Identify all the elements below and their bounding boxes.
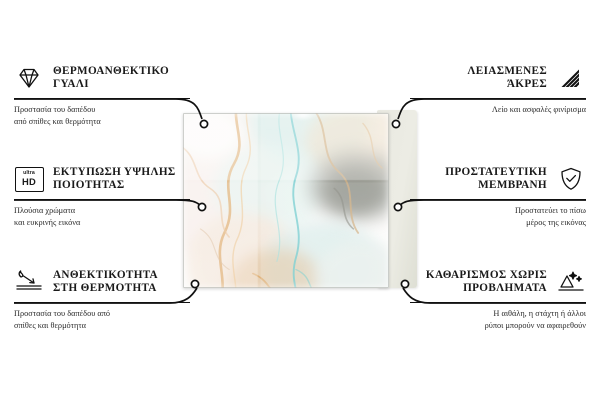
glass-panel xyxy=(183,113,389,288)
feature-title: ΚΑΘΑΡΙΣΜΟΣ ΧΩΡΙΣ ΠΡΟΒΛΗΜΑΤΑ xyxy=(426,269,547,295)
marble-artwork xyxy=(183,113,389,288)
infographic-page: ΘΕΡΜΟΑΝΘΕΚΤΙΚΟ ΓΥΑΛΙ Προστασία του δαπέδ… xyxy=(0,0,600,400)
feature-title: ΠΡΟΣΤΑΤΕΥΤΙΚΗ ΜΕΜΒΡΑΝΗ xyxy=(445,166,547,192)
feature-description: Η αιθάλη, η στάχτη ή άλλοι ρύποι μπορούν… xyxy=(410,308,586,332)
feature-heat-resistant-glass: ΘΕΡΜΟΑΝΘΕΚΤΙΚΟ ΓΥΑΛΙ Προστασία του δαπέδ… xyxy=(14,62,190,128)
product-image xyxy=(183,110,417,290)
glass-glare xyxy=(290,113,316,121)
divider xyxy=(14,199,190,200)
feature-description: Προστασία του δαπέδου από σπίθες και θερ… xyxy=(14,308,190,332)
feature-description: Λείο και ασφαλές φινίρισμα xyxy=(410,104,586,116)
diamond-icon xyxy=(14,64,44,92)
ink-veins xyxy=(183,113,389,288)
feature-description: Προστασία του δαπέδου από σπίθες και θερ… xyxy=(14,104,190,128)
feature-title: ΑΝΘΕΚΤΙΚΟΤΗΤΑ ΣΤΗ ΘΕΡΜΟΤΗΤΑ xyxy=(53,269,158,295)
feature-protective-membrane: ΠΡΟΣΤΑΤΕΥΤΙΚΗ ΜΕΜΒΡΑΝΗ Προστατεύει το πί… xyxy=(410,163,586,229)
divider xyxy=(410,98,586,99)
sparkle-clean-icon xyxy=(556,268,586,296)
feature-description: Πλούσια χρώματα και ευκρινής εικόνα xyxy=(14,205,190,229)
feature-high-quality-print: ultraHD ΕΚΤΥΠΩΣΗ ΥΨΗΛΗΣ ΠΟΙΟΤΗΤΑΣ Πλούσι… xyxy=(14,163,190,229)
feature-title: ΘΕΡΜΟΑΝΘΕΚΤΙΚΟ ΓΥΑΛΙ xyxy=(53,65,169,91)
feature-title: ΕΚΤΥΠΩΣΗ ΥΨΗΛΗΣ ΠΟΙΟΤΗΤΑΣ xyxy=(53,166,176,192)
hatched-triangle-icon xyxy=(556,64,586,92)
shield-check-icon xyxy=(556,165,586,193)
divider xyxy=(410,302,586,303)
divider xyxy=(14,98,190,99)
divider xyxy=(14,302,190,303)
feature-easy-cleaning: ΚΑΘΑΡΙΣΜΟΣ ΧΩΡΙΣ ΠΡΟΒΛΗΜΑΤΑ Η αιθάλη, η … xyxy=(410,266,586,332)
feature-title: ΛΕΙΑΣΜΕΝΕΣ ΆΚΡΕΣ xyxy=(467,65,547,91)
divider xyxy=(410,199,586,200)
feature-polished-edges: ΛΕΙΑΣΜΕΝΕΣ ΆΚΡΕΣ Λείο και ασφαλές φινίρι… xyxy=(410,62,586,116)
flame-deflect-icon xyxy=(14,268,44,296)
feature-heat-resistance: ΑΝΘΕΚΤΙΚΟΤΗΤΑ ΣΤΗ ΘΕΡΜΟΤΗΤΑ Προστασία το… xyxy=(14,266,190,332)
ultra-hd-icon: ultraHD xyxy=(14,165,44,193)
feature-description: Προστατεύει το πίσω μέρος της εικόνας xyxy=(410,205,586,229)
